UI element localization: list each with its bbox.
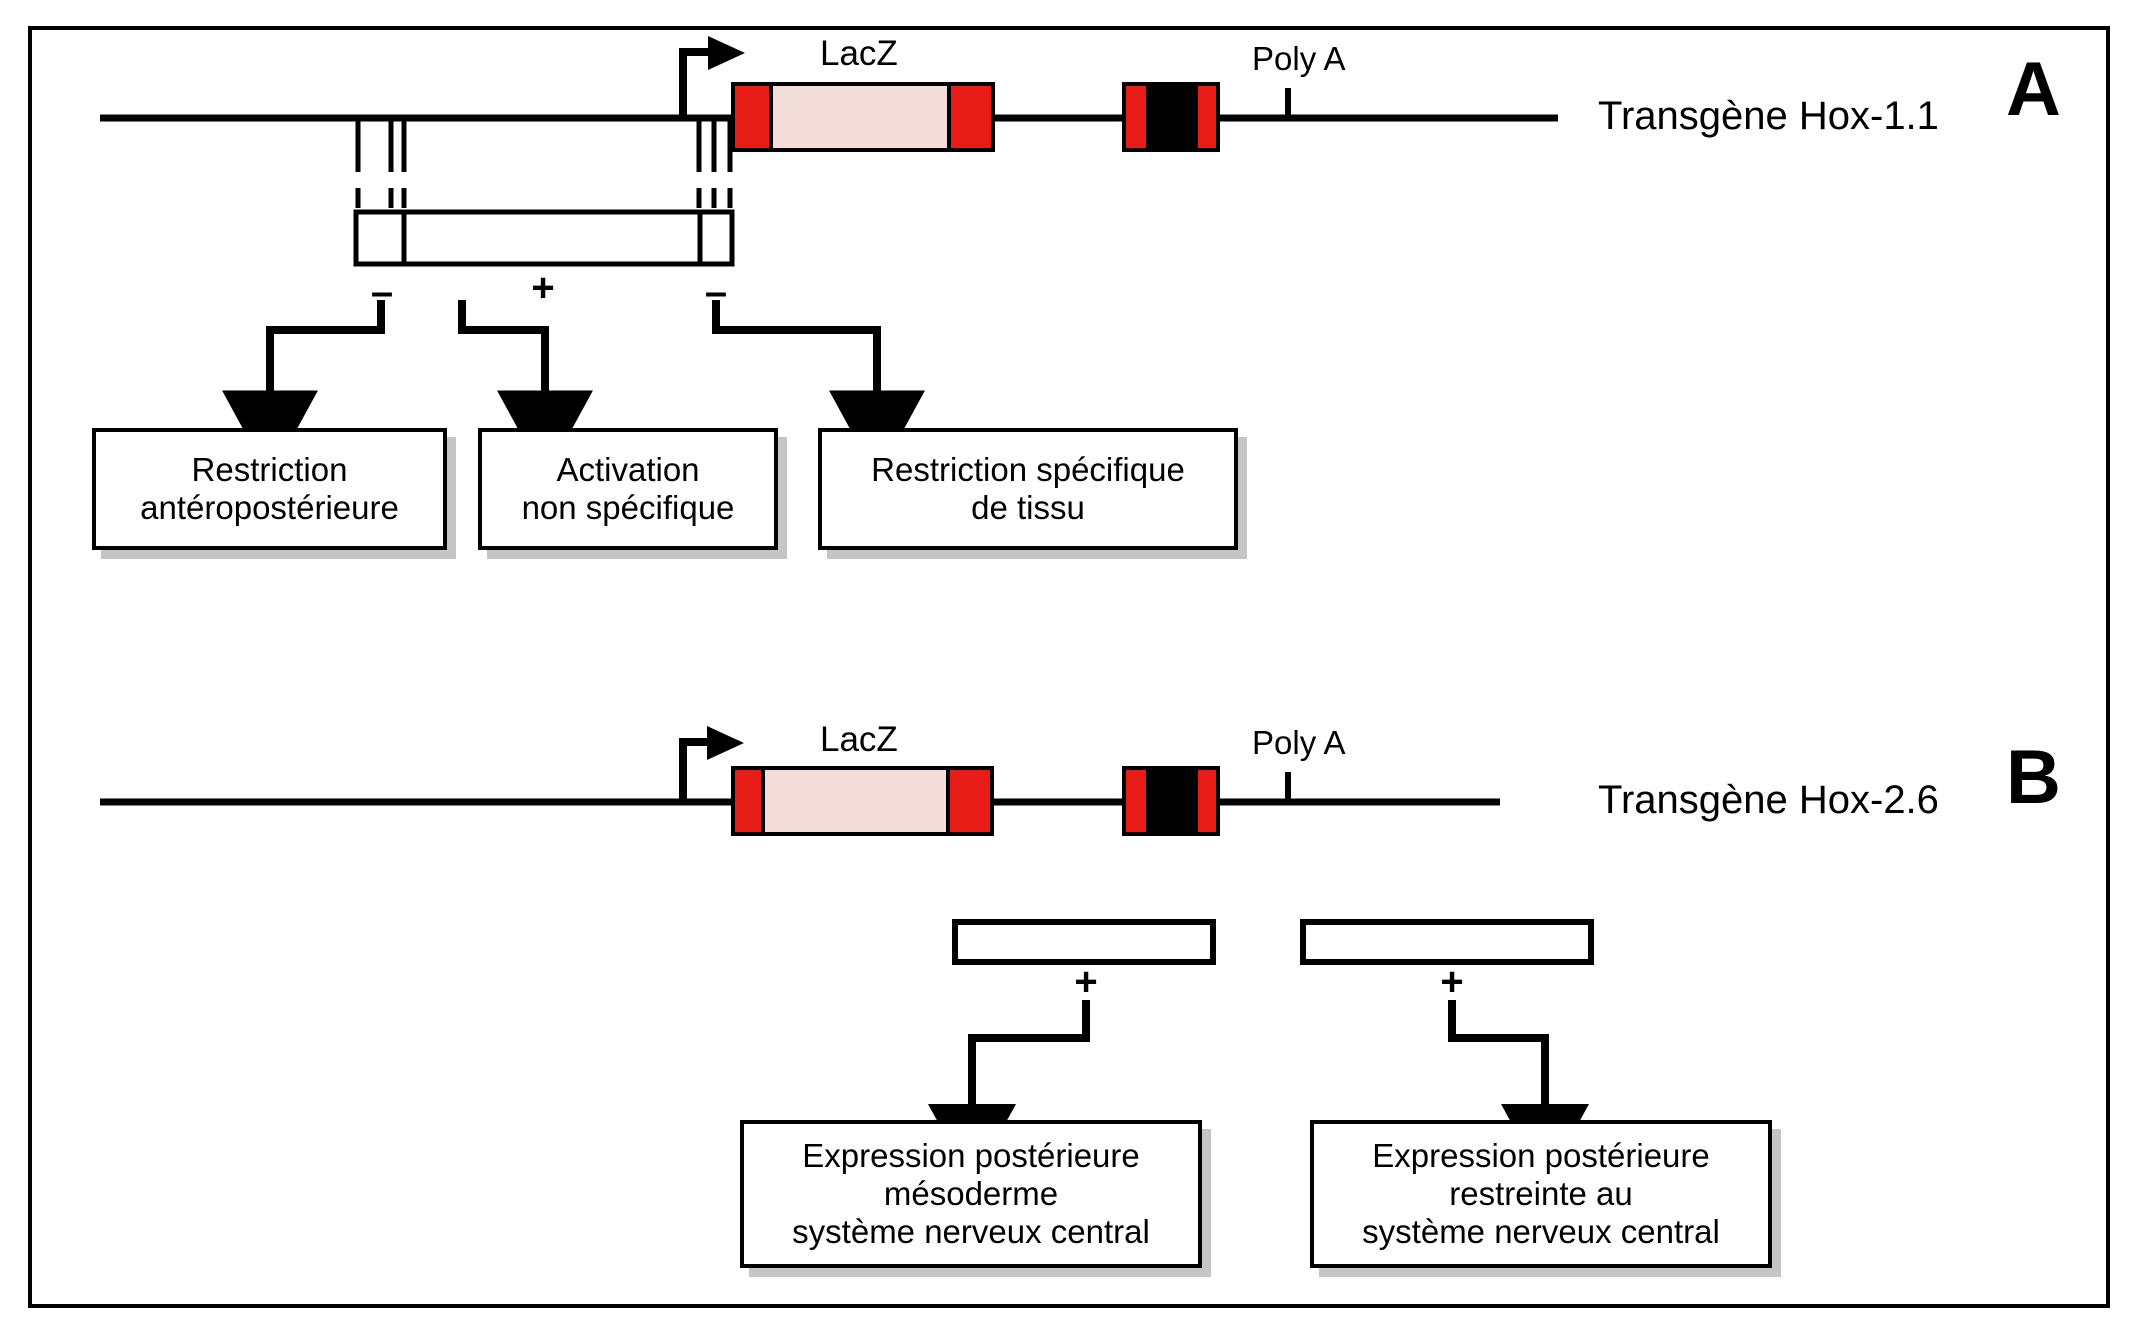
effect-box-a-2-text: Activation non spécifique	[522, 451, 735, 528]
effect-box-a-2: Activation non spécifique	[478, 428, 778, 550]
lacz-flank-left-a	[733, 84, 771, 150]
effect-box-a-1-text: Restriction antéropostérieure	[140, 451, 399, 528]
exon-body-b	[1148, 768, 1196, 834]
connector-a-2	[462, 300, 545, 400]
effect-box-b-1-text: Expression postérieure mésoderme système…	[792, 1137, 1150, 1252]
polya-label-a: Poly A	[1252, 42, 1346, 75]
restriction-ticks-a-right	[699, 118, 730, 152]
panel-marker-b: B	[2006, 740, 2060, 816]
exon-flank-left-b	[1124, 768, 1148, 834]
polya-label-b: Poly A	[1252, 726, 1346, 759]
sign-b-left: +	[1066, 962, 1106, 1002]
transgene-regulatory-diagram: LacZ Poly A Transgène Hox-1.1 A – + – Re…	[0, 0, 2144, 1340]
region-bar-a-left	[356, 212, 404, 264]
effect-box-b-2-text: Expression postérieure restreinte au sys…	[1362, 1137, 1720, 1252]
lacz-label-a: LacZ	[820, 36, 898, 71]
lacz-flank-left-b	[733, 768, 763, 834]
sign-a-right: –	[696, 272, 736, 312]
effect-box-a-3-text: Restriction spécifique de tissu	[871, 451, 1185, 528]
projection-dashes-a	[358, 152, 730, 218]
lacz-label-b: LacZ	[820, 722, 898, 757]
exon-flank-right-a	[1196, 84, 1218, 150]
region-bar-b-left	[955, 922, 1213, 962]
lacz-flank-right-a	[949, 84, 993, 150]
exon-flank-left-a	[1124, 84, 1148, 150]
region-bar-b-right	[1303, 922, 1591, 962]
region-bars-b	[955, 922, 1591, 962]
lacz-body-b	[763, 768, 948, 834]
effect-box-a-1: Restriction antéropostérieure	[92, 428, 447, 550]
lacz-flank-right-b	[948, 768, 992, 834]
construct-label-b: Transgène Hox-2.6	[1598, 780, 1939, 820]
sign-b-right: +	[1432, 962, 1472, 1002]
effect-box-a-3: Restriction spécifique de tissu	[818, 428, 1238, 550]
region-bar-a-right	[700, 212, 732, 264]
sign-a-left: –	[362, 272, 402, 312]
connector-b-2	[1452, 1000, 1545, 1112]
effect-box-b-2: Expression postérieure restreinte au sys…	[1310, 1120, 1772, 1268]
exon-body-a	[1148, 84, 1196, 150]
restriction-ticks-a-left	[358, 118, 404, 152]
construct-label-a: Transgène Hox-1.1	[1598, 96, 1939, 136]
effect-box-b-1: Expression postérieure mésoderme système…	[740, 1120, 1202, 1268]
sign-a-middle: +	[523, 268, 563, 308]
exon-flank-right-b	[1196, 768, 1218, 834]
region-bar-a-middle	[404, 212, 700, 264]
connectors-b	[972, 1000, 1545, 1112]
connectors-a	[270, 300, 877, 400]
connector-b-1	[972, 1000, 1086, 1112]
connector-a-3	[716, 300, 877, 400]
connector-a-1	[270, 300, 381, 400]
panel-marker-a: A	[2006, 52, 2060, 128]
region-bars-a	[356, 212, 732, 264]
lacz-body-a	[771, 84, 949, 150]
